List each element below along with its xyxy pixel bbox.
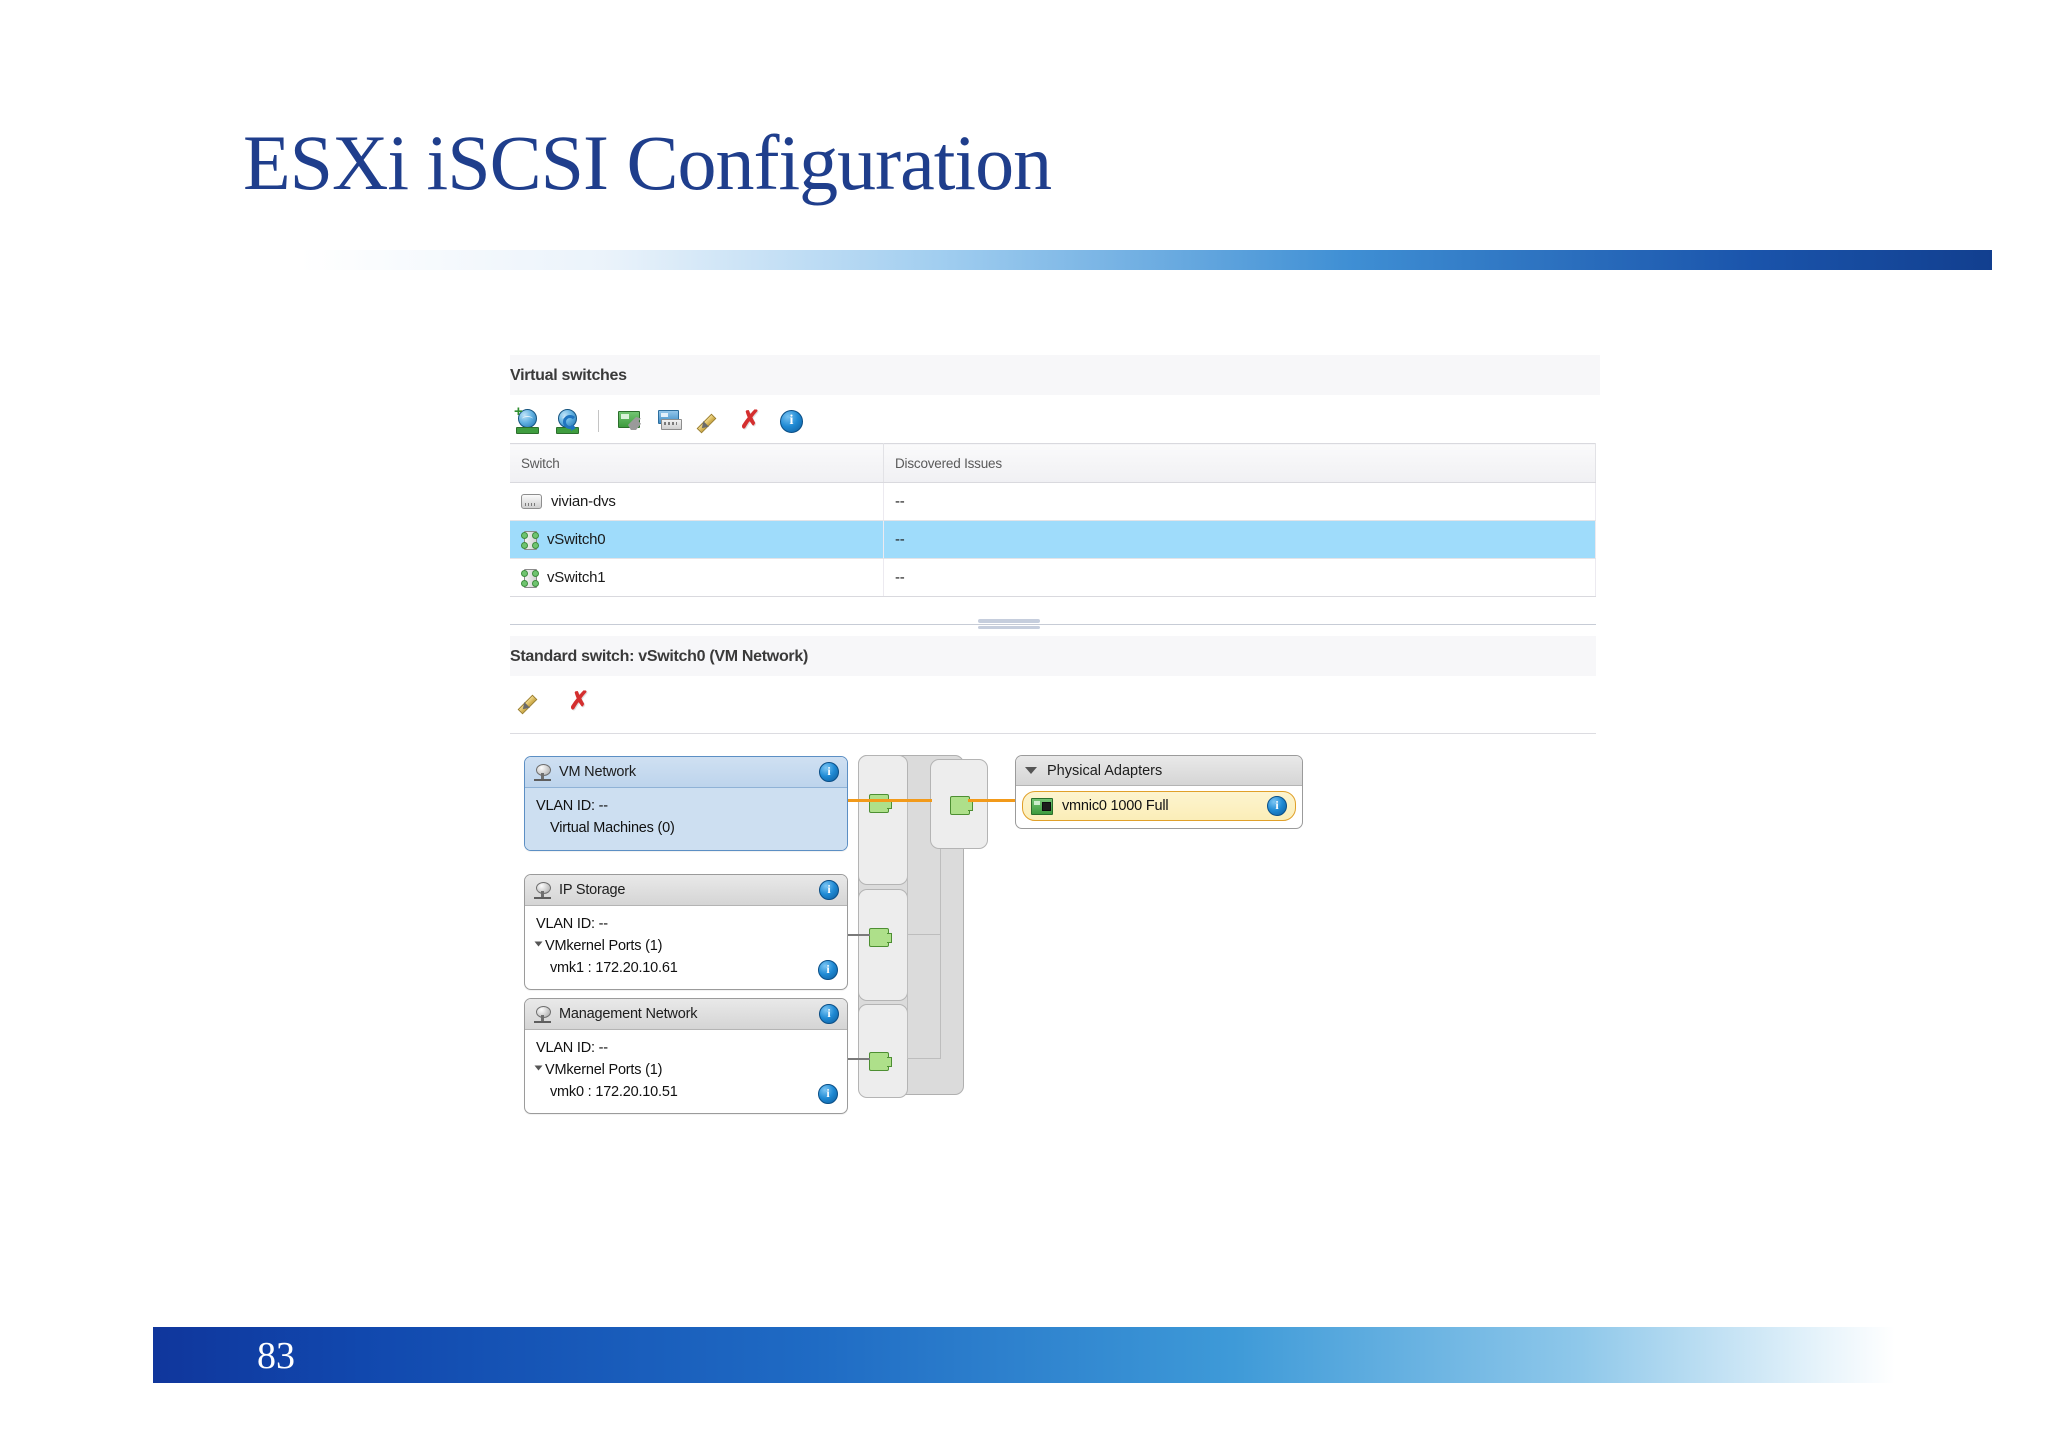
- info-icon[interactable]: i: [819, 762, 839, 782]
- physical-adapter-row[interactable]: vmnic0 1000 Full i: [1022, 791, 1296, 821]
- table-header-row: Switch Discovered Issues: [510, 444, 1596, 483]
- vmkernel-port-label: vmk0 : 172.20.10.51: [536, 1082, 838, 1104]
- splitter-grip-secondary[interactable]: [978, 626, 1040, 629]
- port-group-name: Management Network: [559, 1006, 697, 1022]
- vlan-id-label: VLAN ID: --: [536, 1038, 838, 1060]
- networking-panel: Virtual switches + ✗ i Switch Disc: [510, 355, 1600, 1255]
- vlan-id-label: VLAN ID: --: [536, 796, 838, 818]
- vmkernel-ports-label: VMkernel Ports (1): [545, 1062, 662, 1078]
- column-header-discovered-issues[interactable]: Discovered Issues: [884, 444, 1596, 483]
- collapse-triangle-icon[interactable]: [1025, 767, 1037, 774]
- vmkernel-ports-row[interactable]: VMkernel Ports (1): [536, 936, 838, 958]
- trunk-wire-bottom: [907, 1058, 941, 1059]
- cell-discovered-issues: --: [884, 559, 1596, 597]
- virtual-switches-table: Switch Discovered Issues vivian-dvs --: [510, 443, 1596, 597]
- page-title: ESXi iSCSI Configuration: [243, 118, 1051, 208]
- table-row[interactable]: vSwitch1 --: [510, 559, 1596, 597]
- expand-triangle-icon[interactable]: [535, 941, 543, 946]
- column-header-switch[interactable]: Switch: [510, 444, 884, 483]
- add-networking-icon[interactable]: +: [514, 408, 540, 434]
- vswitch-icon: [521, 568, 538, 587]
- trunk-wire-upper: [907, 799, 908, 935]
- switch-name-label: vSwitch0: [547, 531, 605, 548]
- detail-divider: [510, 733, 1596, 734]
- standard-switch-heading: Standard switch: vSwitch0 (VM Network): [510, 648, 808, 666]
- port-group-body: VLAN ID: -- Virtual Machines (0): [525, 788, 847, 850]
- port-group-body: VLAN ID: -- VMkernel Ports (1) vmk0 : 17…: [525, 1030, 847, 1113]
- port-slot-management: [858, 1004, 908, 1098]
- uplink-link-vm-network: [846, 799, 932, 802]
- cell-discovered-issues: --: [884, 521, 1596, 559]
- dvs-icon: [521, 494, 542, 509]
- port-group-ip-storage[interactable]: IP Storage i VLAN ID: -- VMkernel Ports …: [524, 874, 848, 990]
- virtual-switches-toolbar: + ✗ i: [514, 403, 803, 439]
- table-row[interactable]: vivian-dvs --: [510, 483, 1596, 521]
- port-group-icon: [534, 764, 551, 781]
- vmkernel-port-label: vmk1 : 172.20.10.61: [536, 958, 838, 980]
- port-group-icon: [534, 882, 551, 899]
- splitter-grip[interactable]: [978, 619, 1040, 623]
- port-group-management-network[interactable]: Management Network i VLAN ID: -- VMkerne…: [524, 998, 848, 1114]
- uplink-link-to-adapter: [968, 799, 1018, 802]
- footer-bar: [153, 1327, 1895, 1383]
- port-group-header: IP Storage i: [525, 875, 847, 906]
- edit-icon[interactable]: [518, 689, 544, 715]
- port-slot-vm-network: [858, 755, 908, 885]
- table-row[interactable]: vSwitch0 --: [510, 521, 1596, 559]
- vswitch-topology-diagram: VM Network i VLAN ID: -- Virtual Machine…: [510, 753, 1596, 1223]
- vmkernel-ports-label: VMkernel Ports (1): [545, 938, 662, 954]
- page-number: 83: [257, 1334, 295, 1378]
- refresh-icon[interactable]: [554, 408, 580, 434]
- port-connector-management: [869, 1052, 889, 1071]
- physical-adapters-title: Physical Adapters: [1047, 763, 1162, 779]
- toolbar-separator: [598, 410, 599, 432]
- info-icon[interactable]: i: [819, 1004, 839, 1024]
- physical-adapters-panel[interactable]: Physical Adapters vmnic0 1000 Full i: [1015, 755, 1303, 829]
- port-group-header: Management Network i: [525, 999, 847, 1030]
- cell-switch-name: vSwitch1: [510, 559, 884, 597]
- info-icon[interactable]: i: [777, 408, 803, 434]
- port-connector-vm-network: [869, 794, 889, 813]
- port-group-name: IP Storage: [559, 882, 625, 898]
- switch-name-label: vivian-dvs: [551, 493, 616, 510]
- delete-icon[interactable]: ✗: [566, 689, 592, 715]
- port-group-name: VM Network: [559, 764, 636, 780]
- standard-switch-toolbar: ✗: [518, 689, 592, 715]
- switch-name-label: vSwitch1: [547, 569, 605, 586]
- expand-triangle-icon[interactable]: [535, 1065, 543, 1070]
- cell-switch-name: vivian-dvs: [510, 483, 884, 521]
- uplink-connector: [950, 796, 970, 815]
- manage-virtual-adapters-icon[interactable]: [617, 408, 643, 434]
- virtual-switches-band: [510, 355, 1600, 395]
- nic-card-icon: [1031, 798, 1053, 815]
- physical-adapters-body: vmnic0 1000 Full i: [1016, 786, 1302, 828]
- panel-splitter[interactable]: [510, 617, 1596, 631]
- splitter-line: [510, 624, 1596, 625]
- manage-physical-adapters-icon[interactable]: [657, 408, 683, 434]
- vswitch-icon: [521, 530, 538, 549]
- port-connector-ip-storage: [869, 928, 889, 947]
- vmkernel-ports-row[interactable]: VMkernel Ports (1): [536, 1060, 838, 1082]
- port-group-vm-network[interactable]: VM Network i VLAN ID: -- Virtual Machine…: [524, 756, 848, 851]
- trunk-wire-lower: [907, 934, 908, 1059]
- title-divider-rule: [300, 250, 1992, 270]
- port-group-body: VLAN ID: -- VMkernel Ports (1) vmk1 : 17…: [525, 906, 847, 989]
- vlan-id-label: VLAN ID: --: [536, 914, 838, 936]
- physical-adapters-header: Physical Adapters: [1016, 756, 1302, 786]
- info-icon[interactable]: i: [819, 880, 839, 900]
- port-group-header: VM Network i: [525, 757, 847, 788]
- edit-icon[interactable]: [697, 408, 723, 434]
- info-icon[interactable]: i: [1267, 796, 1287, 816]
- virtual-switches-heading: Virtual switches: [510, 367, 627, 385]
- trunk-wire-mid-stub: [907, 934, 941, 935]
- cell-discovered-issues: --: [884, 483, 1596, 521]
- physical-adapter-label: vmnic0 1000 Full: [1062, 798, 1168, 814]
- uplink-port-slot: [930, 759, 988, 849]
- cell-switch-name: vSwitch0: [510, 521, 884, 559]
- port-group-icon: [534, 1006, 551, 1023]
- delete-icon[interactable]: ✗: [737, 408, 763, 434]
- virtual-machines-label: Virtual Machines (0): [536, 818, 838, 840]
